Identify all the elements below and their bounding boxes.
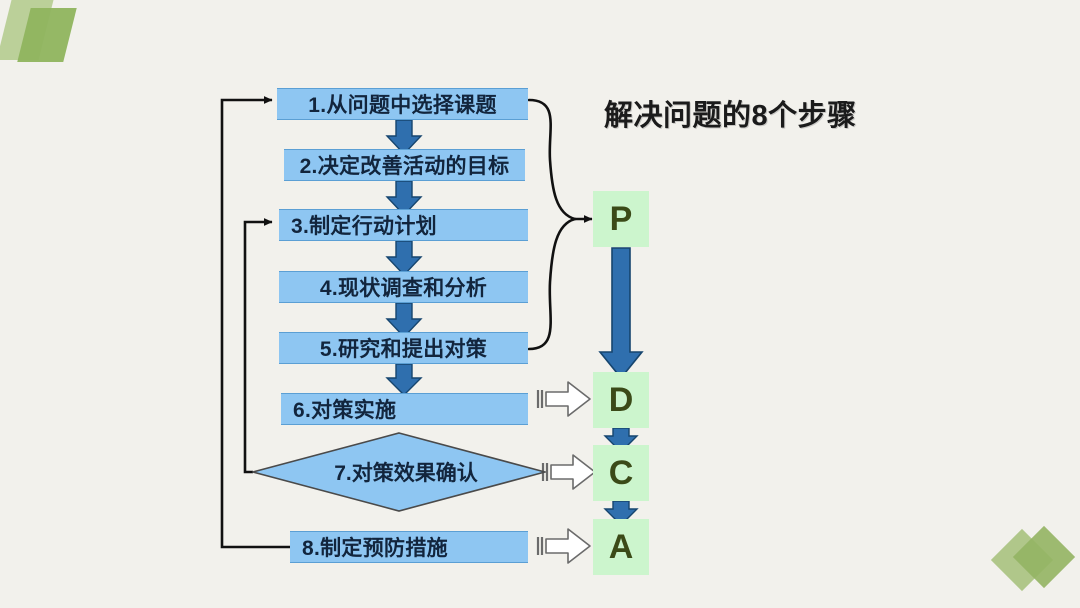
decision-diamond-7[interactable]: 7.对策效果确认: [252, 432, 546, 512]
decoration-top-left-back: [0, 0, 57, 60]
pdca-box-c[interactable]: C: [593, 445, 649, 501]
step-box-4[interactable]: 4.现状调查和分析: [279, 271, 528, 303]
outline-arrow-group: [538, 382, 595, 563]
pdca-label-a: A: [609, 528, 634, 567]
pdca-box-d[interactable]: D: [593, 372, 649, 428]
decoration-bottom-right-back: [991, 529, 1053, 591]
step-box-3[interactable]: 3.制定行动计划: [279, 209, 528, 241]
step-label-6: 6.对策实施: [293, 394, 396, 424]
decision-label-7: 7.对策效果确认: [252, 432, 546, 512]
connector-layer: [0, 0, 1080, 608]
pdca-label-c: C: [609, 454, 634, 493]
step-label-5: 5.研究和提出对策: [320, 333, 487, 363]
step-box-5[interactable]: 5.研究和提出对策: [279, 332, 528, 364]
outline-arrow-7-to-c: [543, 455, 595, 489]
pdca-label-p: P: [610, 200, 633, 239]
page-title: 解决问题的8个步骤: [604, 92, 857, 134]
decoration-top-left-front: [17, 8, 76, 62]
outline-arrow-6-to-d: [538, 382, 590, 416]
pdca-box-p[interactable]: P: [593, 191, 649, 247]
slide-canvas: 解决问题的8个步骤: [0, 0, 1080, 608]
step-label-2: 2.决定改善活动的目标: [300, 150, 510, 180]
step-box-6[interactable]: 6.对策实施: [281, 393, 528, 425]
step-label-3: 3.制定行动计划: [291, 210, 437, 240]
step-label-1: 1.从问题中选择课题: [308, 89, 497, 119]
brace-steps-1-to-5: [529, 100, 575, 349]
step-label-8: 8.制定预防措施: [302, 532, 448, 562]
decoration-bottom-right-front: [1013, 526, 1075, 588]
pdca-box-a[interactable]: A: [593, 519, 649, 575]
arrow-p-to-d: [600, 248, 642, 378]
step-label-4: 4.现状调查和分析: [320, 272, 487, 302]
pdca-label-d: D: [609, 381, 634, 420]
step-box-8[interactable]: 8.制定预防措施: [290, 531, 528, 563]
step-box-1[interactable]: 1.从问题中选择课题: [277, 88, 528, 120]
step-box-2[interactable]: 2.决定改善活动的目标: [284, 149, 525, 181]
outline-arrow-8-to-a: [538, 529, 590, 563]
